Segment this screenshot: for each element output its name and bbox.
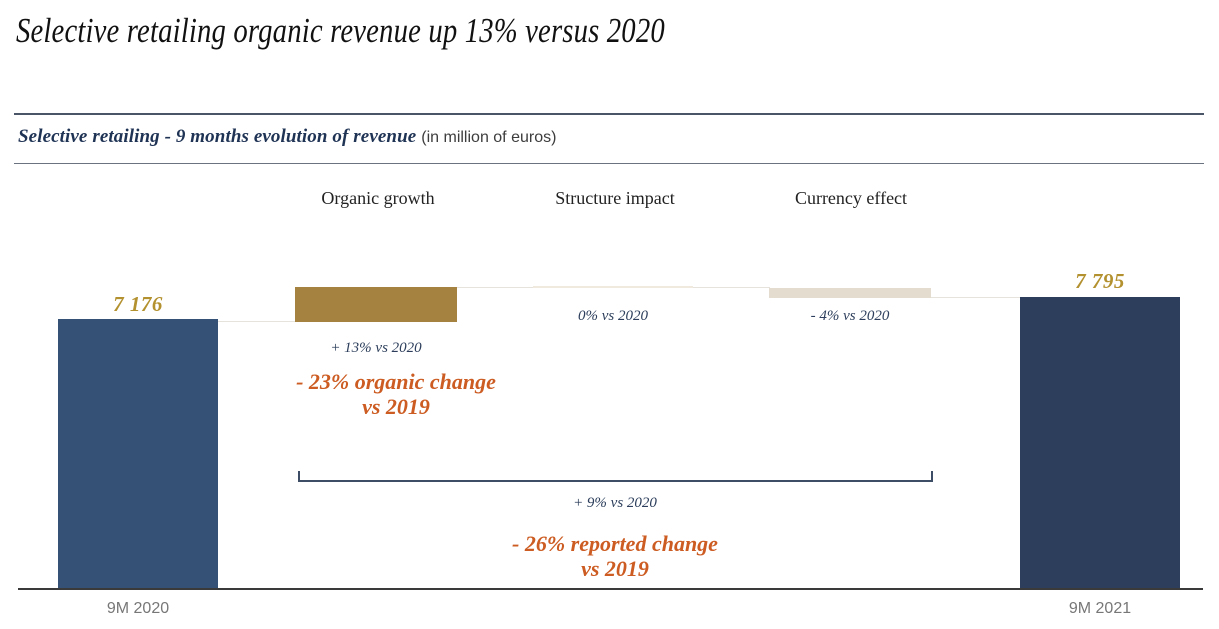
bracket-horizontal (298, 480, 933, 482)
callout-reported-change-line2: vs 2019 (475, 557, 755, 582)
bar-9m-2020 (58, 319, 218, 589)
delta-label-currency-effect: - 4% vs 2020 (730, 308, 970, 325)
axis-tick-label-9m-2020: 9M 2020 (58, 600, 218, 618)
bar-structure-impact (533, 286, 693, 288)
axis-baseline (18, 588, 1203, 590)
bracket-tick-right (931, 471, 933, 481)
callout-reported-change: - 26% reported change vs 2019 (475, 532, 755, 581)
slide-canvas: Selective retailing organic revenue up 1… (0, 0, 1219, 629)
callout-organic-change-line2: vs 2019 (256, 395, 536, 420)
connector-currency-to-end (930, 297, 1020, 298)
bar-9m-2021 (1020, 297, 1180, 589)
delta-label-structure-impact: 0% vs 2020 (493, 308, 733, 325)
connector-organic-to-structure (456, 287, 534, 288)
value-label-9m-2021: 7 795 (1020, 269, 1180, 294)
bracket-tick-left (298, 471, 300, 481)
connector-structure-to-currency (692, 287, 770, 288)
value-label-9m-2020: 7 176 (58, 292, 218, 317)
callout-organic-change-line1: - 23% organic change (256, 370, 536, 395)
delta-label-organic-growth: + 13% vs 2020 (256, 340, 496, 357)
delta-label-total: + 9% vs 2020 (495, 495, 735, 512)
bar-organic-growth (295, 287, 457, 322)
bar-currency-effect (769, 288, 931, 298)
connector-start-to-organic (218, 321, 296, 322)
waterfall-chart: 7 176 7 795 + 13% vs 2020 0% vs 2020 - 4… (0, 0, 1219, 629)
callout-organic-change: - 23% organic change vs 2019 (256, 370, 536, 419)
callout-reported-change-line1: - 26% reported change (475, 532, 755, 557)
axis-tick-label-9m-2021: 9M 2021 (1020, 600, 1180, 618)
